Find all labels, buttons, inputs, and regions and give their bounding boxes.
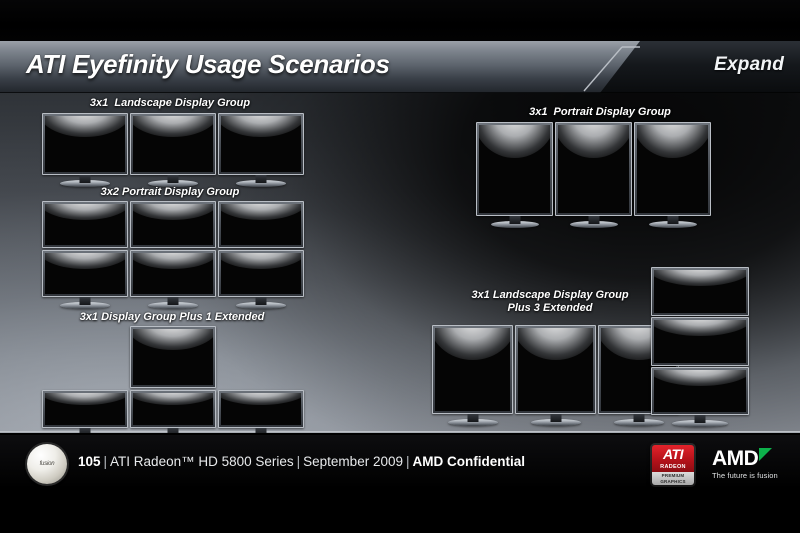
display-stand-neck xyxy=(256,428,267,433)
display-screen xyxy=(133,204,213,245)
display-bezel xyxy=(515,325,596,414)
display-stand-neck xyxy=(588,216,599,224)
ati-brand-text: ATI xyxy=(652,446,694,462)
display-screen xyxy=(654,320,746,363)
display-stand-neck xyxy=(168,297,179,305)
display-screen xyxy=(435,328,510,411)
display-screen xyxy=(518,328,593,411)
group-label-portrait-3x2: 3x2 Portrait Display Group xyxy=(40,186,300,199)
footer-separator-2: | xyxy=(297,454,301,469)
display-screen xyxy=(133,329,213,385)
amd-tagline: The future is fusion xyxy=(712,471,792,480)
display-bezel xyxy=(42,201,128,248)
display-bezel xyxy=(651,317,749,366)
display-screen xyxy=(133,253,213,294)
group-label-portrait-3x1: 3x1 Portrait Display Group xyxy=(470,106,730,119)
fusion-badge-label: fusion xyxy=(40,461,55,467)
footer-confidential: AMD Confidential xyxy=(413,454,526,469)
display-bezel xyxy=(130,201,216,248)
ati-logo-grey-panel: PREMIUM GRAPHICS xyxy=(652,472,694,485)
top-black-band xyxy=(0,0,800,41)
display-stand-neck xyxy=(80,428,91,433)
display-stand-neck xyxy=(550,414,561,422)
display-stand-neck xyxy=(695,415,706,423)
ati-logo-red-panel: ATI RADEON xyxy=(652,445,694,472)
footer-separator-3: | xyxy=(406,454,410,469)
display-screen xyxy=(479,125,550,213)
amd-wordmark: AMD xyxy=(712,447,758,470)
display-screen xyxy=(221,116,301,172)
display-stand-neck xyxy=(168,428,179,433)
display-screen xyxy=(221,393,301,425)
display-bezel xyxy=(130,250,216,297)
footer-separator-1: | xyxy=(104,454,108,469)
display-bezel xyxy=(634,122,711,216)
display-stand-neck xyxy=(80,175,91,183)
display-bezel xyxy=(218,201,304,248)
display-bezel xyxy=(432,325,513,414)
display-bezel xyxy=(218,250,304,297)
amd-logo: AMD The future is fusion xyxy=(712,448,792,480)
display-bezel xyxy=(42,390,128,428)
display-stand-neck xyxy=(633,414,644,422)
amd-arrow-icon xyxy=(759,448,772,461)
display-screen xyxy=(45,393,125,425)
display-screen xyxy=(654,270,746,313)
display-screen xyxy=(637,125,708,213)
display-bezel xyxy=(651,267,749,316)
display-bezel xyxy=(42,113,128,175)
display-bezel xyxy=(42,250,128,297)
footer-date: September 2009 xyxy=(303,454,403,469)
slide-number: 105 xyxy=(78,454,101,469)
display-screen xyxy=(133,393,213,425)
display-bezel xyxy=(130,390,216,428)
display-bezel xyxy=(476,122,553,216)
display-bezel xyxy=(130,113,216,175)
group-label-plus-1-extended: 3x1 Display Group Plus 1 Extended xyxy=(32,311,312,324)
display-screen xyxy=(221,204,301,245)
scenarios-stage: 3x1 Landscape Display Group 3x2 Portrait… xyxy=(0,93,800,433)
ati-radeon-logo-icon: ATI RADEON PREMIUM GRAPHICS xyxy=(650,443,696,487)
display-bezel xyxy=(130,326,216,388)
display-screen xyxy=(45,204,125,245)
display-bezel xyxy=(218,390,304,428)
page-title: ATI Eyefinity Usage Scenarios xyxy=(26,49,390,80)
display-screen xyxy=(221,253,301,294)
display-stand-neck xyxy=(256,297,267,305)
display-stand-neck xyxy=(667,216,678,224)
display-screen xyxy=(654,370,746,412)
group-label-landscape-plus-3-line2: Plus 3 Extended xyxy=(440,302,660,315)
slide-title-bar: ATI Eyefinity Usage Scenarios Expand xyxy=(0,41,800,93)
ati-subbrand-text: RADEON xyxy=(652,464,694,470)
display-screen xyxy=(45,253,125,294)
slide-canvas: ATI Eyefinity Usage Scenarios Expand 3x1… xyxy=(0,0,800,533)
display-screen xyxy=(558,125,629,213)
display-bezel xyxy=(218,113,304,175)
display-stand-neck xyxy=(256,175,267,183)
ati-graphics-text: GRAPHICS xyxy=(652,479,694,485)
display-stand-neck xyxy=(467,414,478,422)
display-screen xyxy=(133,116,213,172)
display-stand-neck xyxy=(80,297,91,305)
group-label-landscape-plus-3-line1: 3x1 Landscape Display Group xyxy=(440,289,660,302)
display-screen xyxy=(45,116,125,172)
display-bezel xyxy=(555,122,632,216)
footer-product: ATI Radeon™ HD 5800 Series xyxy=(110,454,294,469)
display-stand-neck xyxy=(168,175,179,183)
fusion-badge-icon: fusion xyxy=(27,444,67,484)
section-tab-label: Expand xyxy=(714,54,784,76)
display-bezel xyxy=(651,367,749,415)
footer-meta: 105|ATI Radeon™ HD 5800 Series|September… xyxy=(78,454,525,469)
display-stand-neck xyxy=(509,216,520,224)
amd-wordmark-row: AMD xyxy=(712,448,792,469)
group-label-landscape-3x1: 3x1 Landscape Display Group xyxy=(40,97,300,110)
